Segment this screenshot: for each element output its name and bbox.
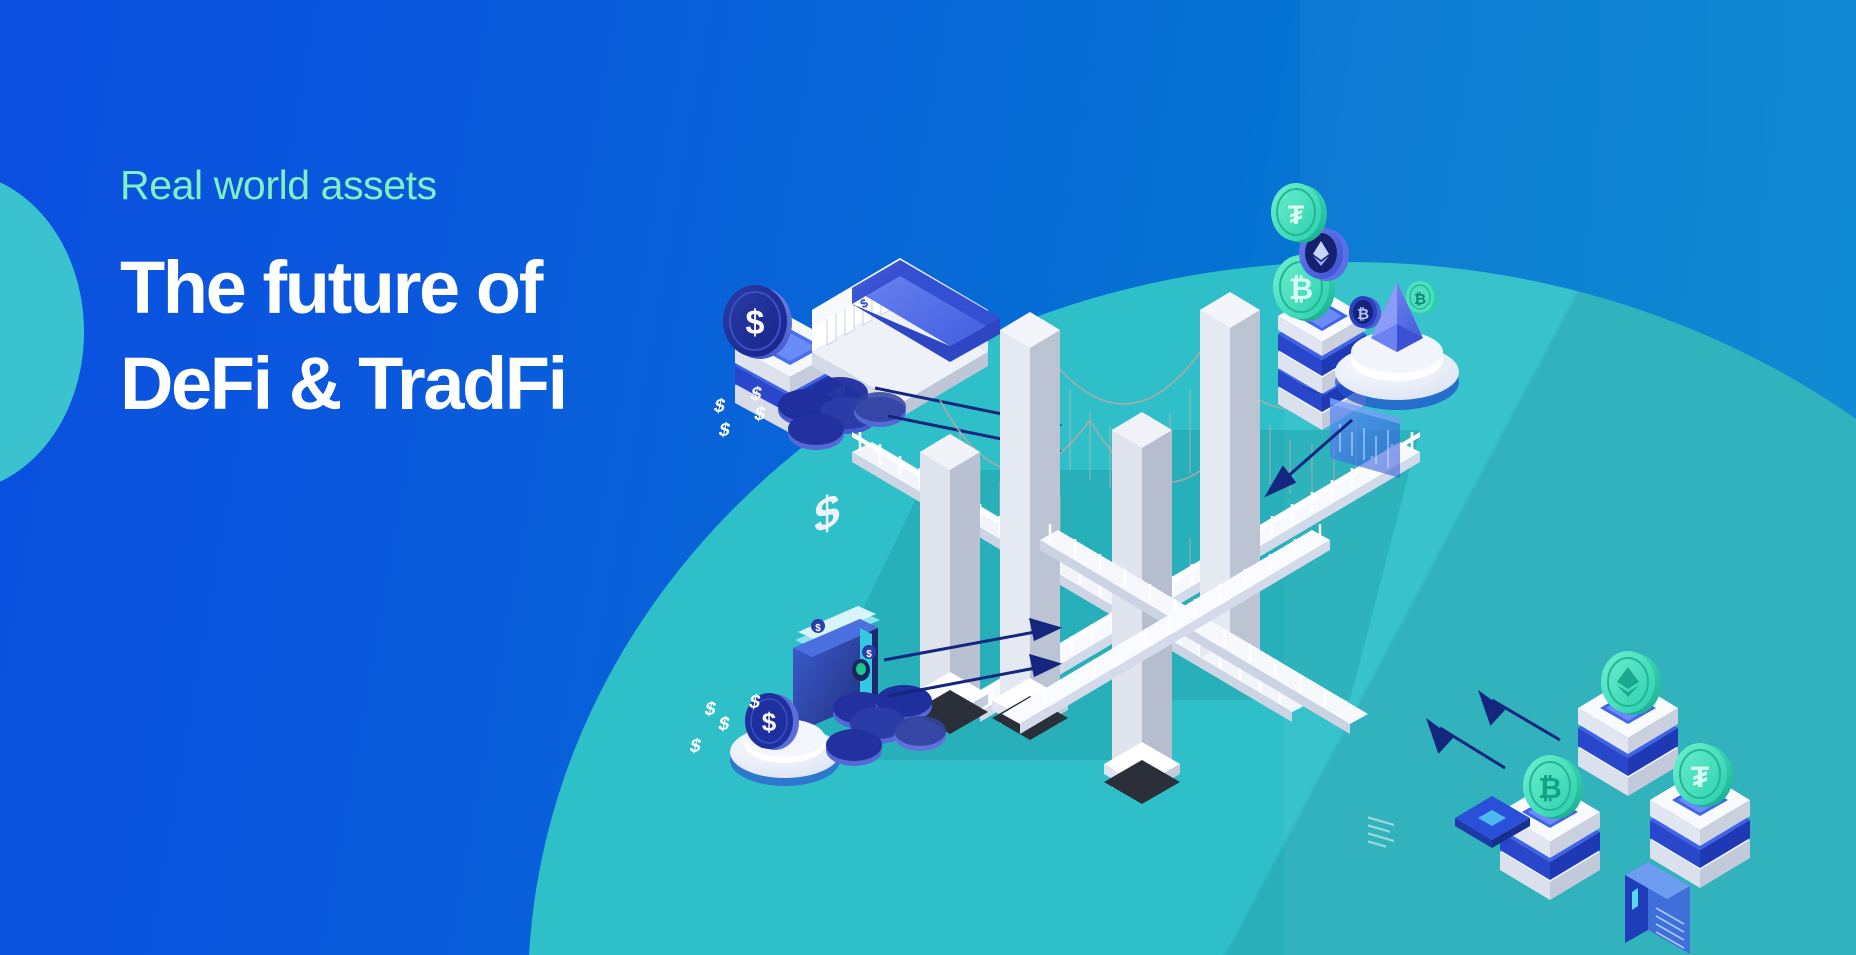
bitcoin-symbol: ₿ [1357, 306, 1369, 323]
page-title: The future of DeFi & TradFi [120, 240, 566, 432]
coin-symbol: $ [712, 396, 727, 417]
dollar-symbol: $ [762, 707, 777, 737]
arrow-bridge-to-crypto-bottom-1 [1481, 694, 1560, 740]
coin-symbol: $ [703, 699, 718, 720]
eyebrow-label: Real world assets [120, 165, 566, 206]
bitcoin-symbol: ₿ [1538, 773, 1562, 805]
banner-root: Real world assets The future of DeFi & T… [0, 0, 1856, 955]
btc-coin-small: ₿ [1349, 296, 1381, 329]
bill-dollar-symbol: $ [815, 623, 821, 634]
bill-dollar-symbol: $ [866, 649, 872, 660]
arrow-bridge-to-crypto-bottom-2 [1429, 722, 1505, 768]
coin-symbol: $ [688, 736, 703, 757]
tether-symbol: ₮ [1288, 200, 1305, 230]
banner-copy: Real world assets The future of DeFi & T… [120, 165, 566, 432]
dollar-coin: $ [723, 285, 792, 359]
illustration-svg: $ [0, 0, 1856, 955]
btc-coin-small-teal: ₿ [1406, 281, 1438, 314]
eth-stack-bottom [1578, 651, 1678, 796]
wallet-dollar-symbol: $ [814, 482, 840, 545]
headline-line-1: The future of [120, 240, 566, 336]
bitcoin-symbol: ₿ [1289, 273, 1313, 306]
bridge-tower [992, 312, 1068, 740]
dollar-symbol: $ [746, 304, 765, 342]
tether-symbol: ₮ [1691, 761, 1709, 794]
coin-symbol: $ [717, 420, 732, 441]
coin-symbol: $ [716, 714, 731, 735]
isometric-illustration: $ [0, 0, 1856, 955]
headline-line-2: DeFi & TradFi [120, 336, 566, 432]
usdt-coin-floating: ₮ [1271, 183, 1327, 243]
bitcoin-symbol: ₿ [1414, 291, 1426, 308]
